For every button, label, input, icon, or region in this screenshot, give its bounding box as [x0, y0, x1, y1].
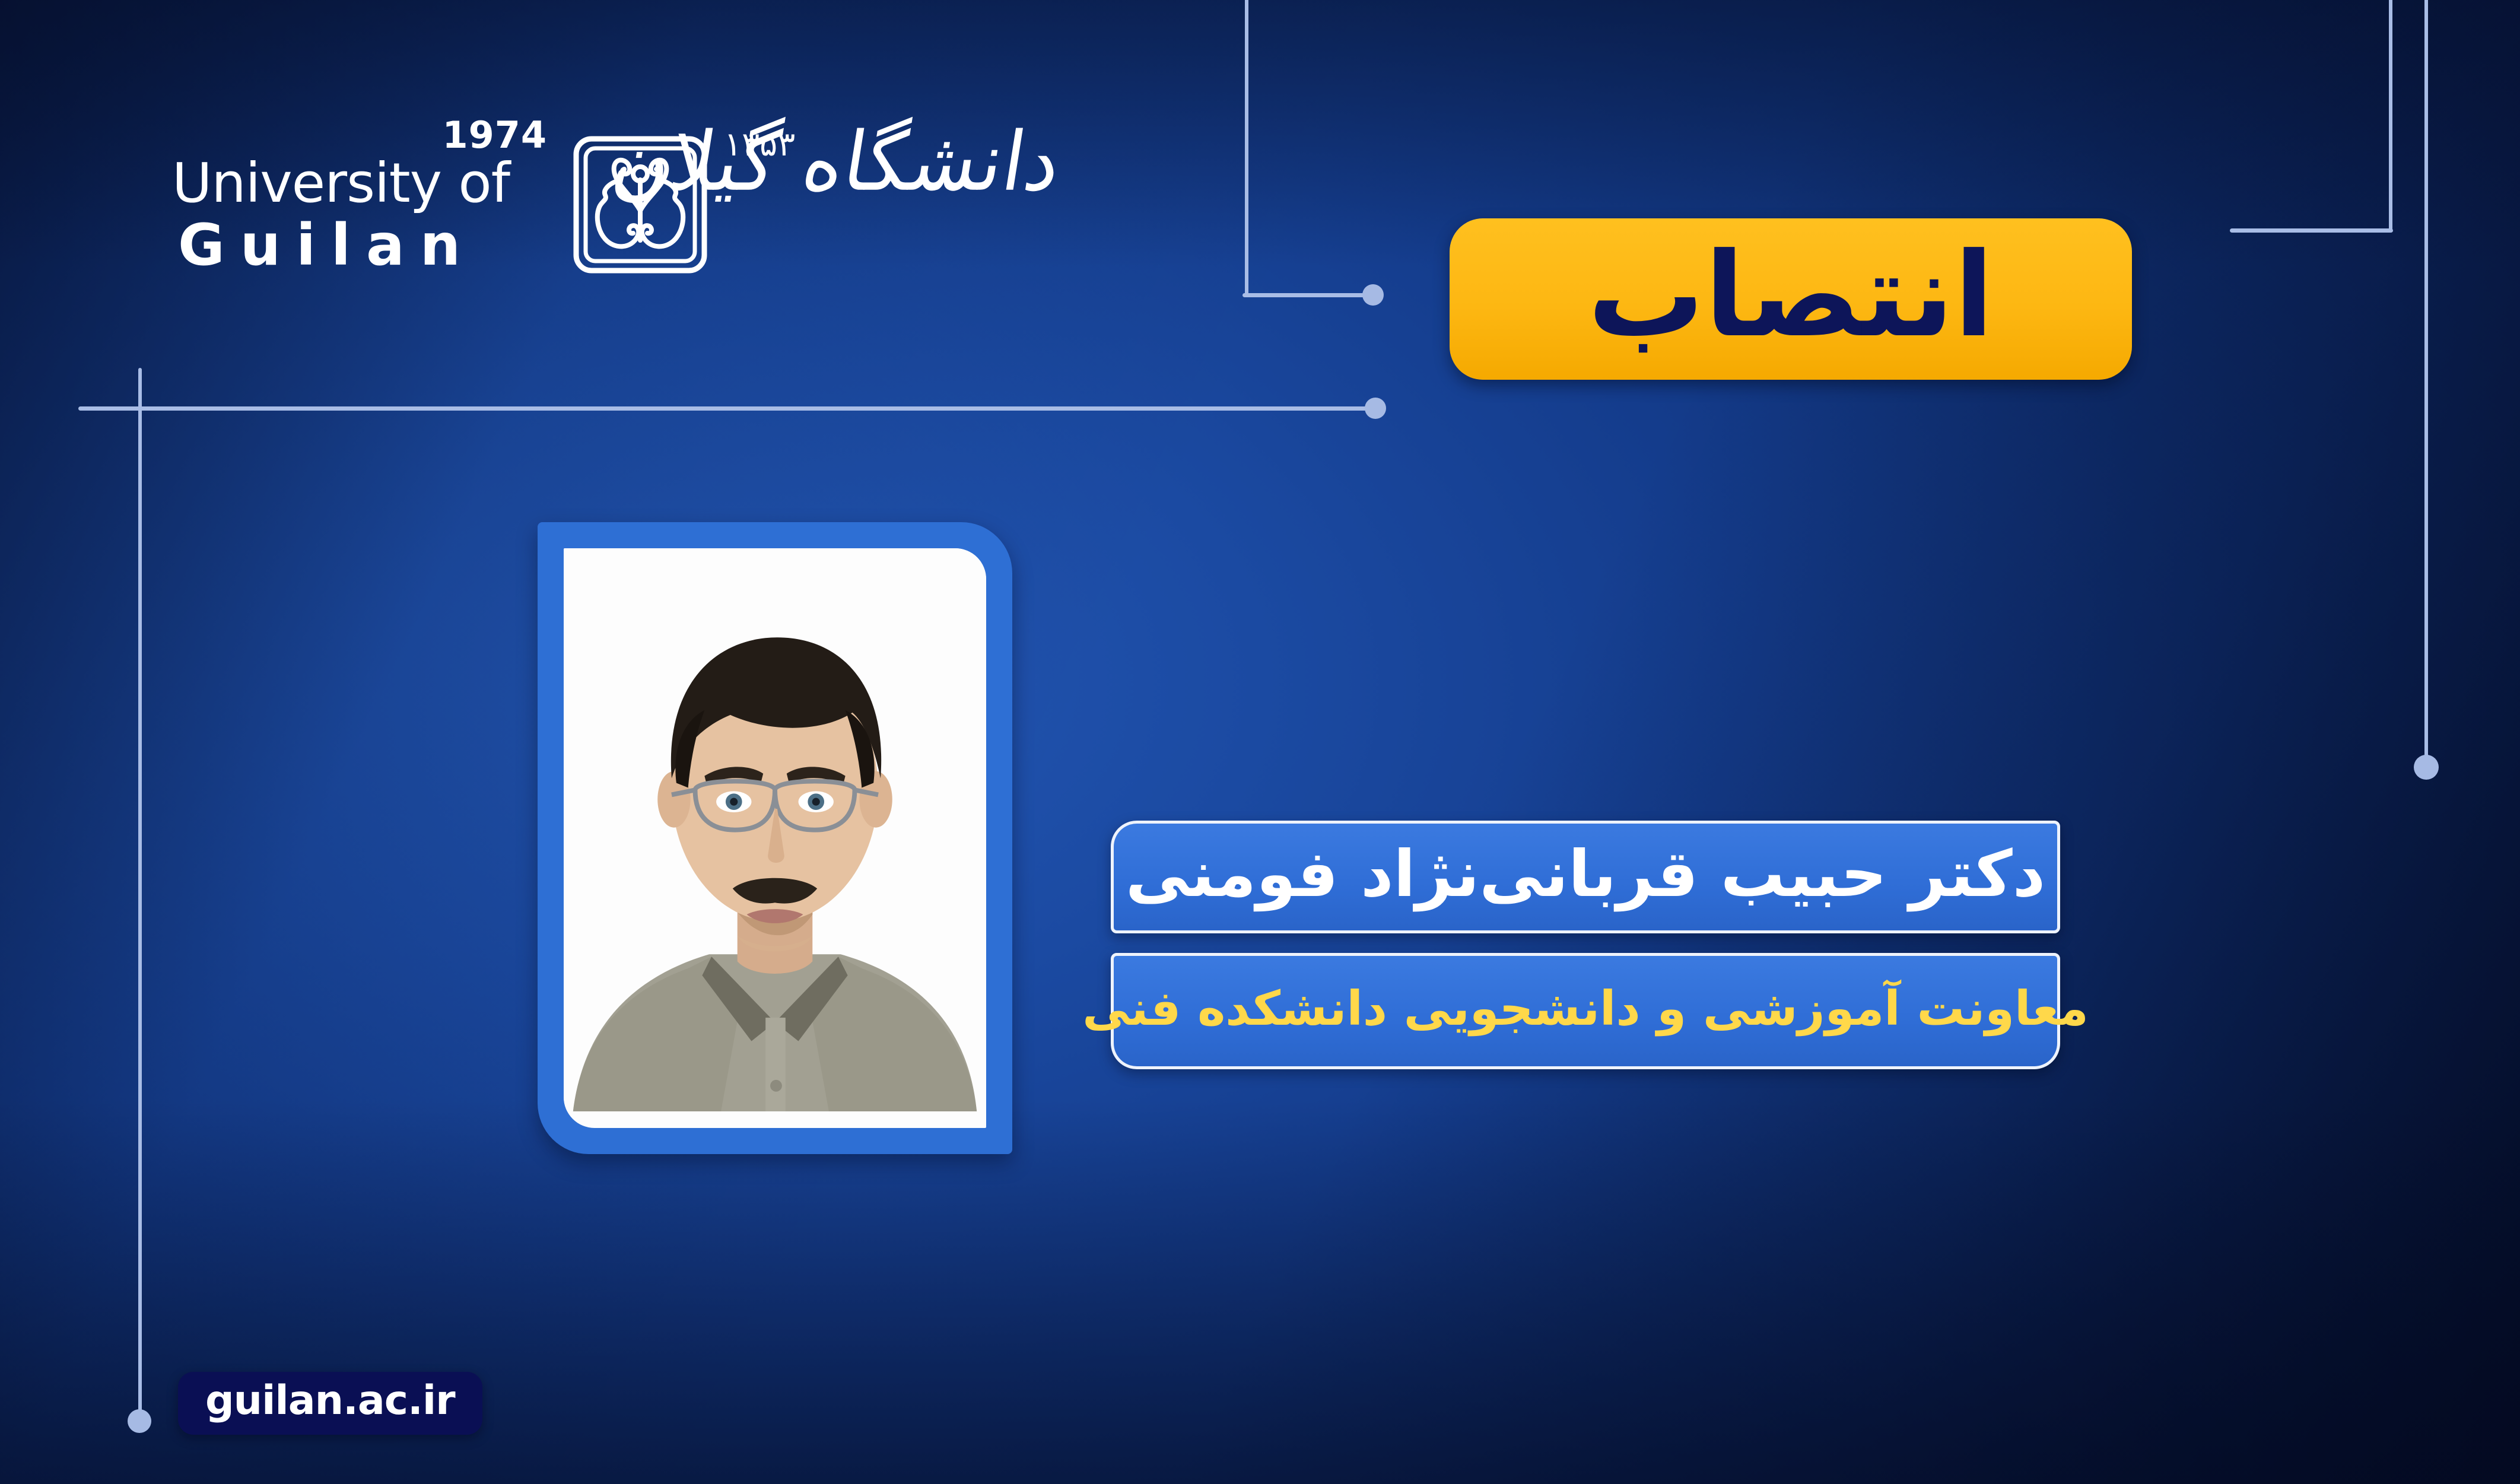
person-name-bar: دکتر حبیب قربانی‌نژاد فومنی [1111, 821, 2060, 933]
portrait-illustration [564, 548, 986, 1111]
website-url-label: guilan.ac.ir [205, 1381, 455, 1421]
deco-line-right-vertical-long [2424, 0, 2428, 765]
logo-university-of-label: University of [172, 156, 510, 211]
appointment-poster: 1974 University of Guilan دانشگاه گیلان … [0, 0, 2520, 1484]
website-url-pill[interactable]: guilan.ac.ir [178, 1372, 482, 1435]
university-logo: 1974 University of Guilan دانشگاه گیلان … [172, 104, 1216, 300]
logo-english-text: 1974 University of Guilan [172, 104, 552, 300]
headline-label: انتصاب [1588, 237, 1994, 354]
deco-dot-top-right [1362, 284, 1384, 306]
logo-guilan-label: Guilan [178, 217, 476, 274]
deco-line-right-horizontal [2230, 228, 2393, 233]
deco-dot-bottom-left [128, 1409, 151, 1433]
deco-line-left-horizontal [78, 406, 1378, 411]
portrait-frame [538, 522, 1012, 1154]
logo-persian-text: دانشگاه گیلان ۱۳۵۳ [727, 104, 1060, 300]
person-role-bar: معاونت آموزشی و دانشجویی دانشکده فنی [1111, 953, 2060, 1069]
headline-badge: انتصاب [1450, 218, 2132, 380]
deco-line-left-vertical-upper [138, 368, 142, 1430]
deco-line-top-right-vertical [1245, 0, 1248, 297]
person-name: دکتر حبیب قربانی‌نژاد فومنی [1126, 843, 2045, 907]
portrait-photo [564, 548, 986, 1128]
logo-founding-year-persian: ۱۳۵۳ [724, 125, 795, 164]
deco-line-top-right-horizontal [1242, 293, 1371, 297]
deco-dot-right [2414, 755, 2439, 780]
logo-founding-year-gregorian: 1974 [442, 117, 547, 154]
deco-line-right-vertical-short [2389, 0, 2392, 231]
deco-dot-mid-left [1365, 398, 1386, 419]
person-role: معاونت آموزشی و دانشجویی دانشکده فنی [1082, 985, 2089, 1032]
